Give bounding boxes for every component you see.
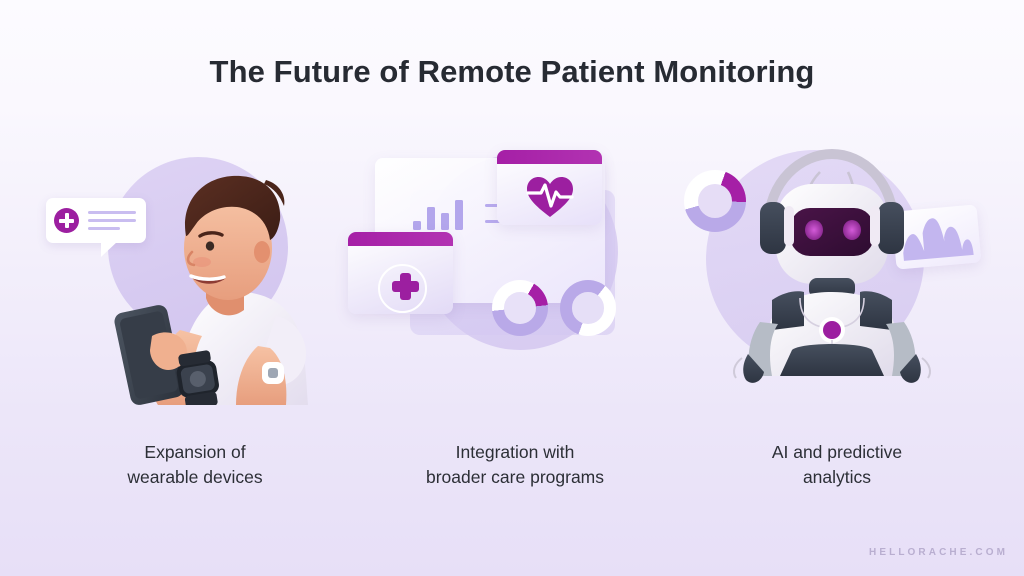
bar (455, 200, 463, 230)
caption-line-1: AI and predictive (672, 440, 1002, 465)
heart-pulse-icon (526, 176, 574, 218)
medical-record-card (348, 232, 453, 314)
bubble-text-line (88, 227, 120, 230)
medical-plus-icon (54, 208, 79, 233)
illustration-ai (672, 140, 1002, 405)
donut-chart-left (492, 280, 548, 336)
bar (441, 213, 449, 230)
caption-wearables: Expansion of wearable devices (30, 440, 360, 491)
bar-chart-icon (413, 200, 473, 230)
medical-cross-icon (392, 281, 419, 292)
caption-line-1: Expansion of (30, 440, 360, 465)
illustration-wearables (30, 140, 360, 405)
bar (413, 221, 421, 230)
bar (427, 207, 435, 230)
page-title: The Future of Remote Patient Monitoring (0, 54, 1024, 90)
bubble-text-line (88, 211, 136, 214)
card-header-bar (348, 232, 453, 246)
caption-line-2: broader care programs (350, 465, 680, 490)
bubble-text-line (88, 219, 136, 222)
health-dashboard-cards (350, 140, 680, 405)
caption-line-1: Integration with (350, 440, 680, 465)
caption-ai: AI and predictive analytics (672, 440, 1002, 491)
watermark: HELLORACHE.COM (869, 547, 1008, 558)
card-header-bar (497, 150, 602, 164)
column-integration: Integration with broader care programs (350, 140, 680, 560)
caption-line-2: analytics (672, 465, 1002, 490)
caption-integration: Integration with broader care programs (350, 440, 680, 491)
column-wearables: Expansion of wearable devices (30, 140, 360, 560)
man-with-smartphone-illustration (30, 140, 360, 405)
infographic-canvas: The Future of Remote Patient Monitoring (0, 0, 1024, 576)
donut-chart-right (560, 280, 616, 336)
column-ai: AI and predictive analytics (672, 140, 1002, 560)
caption-line-2: wearable devices (30, 465, 360, 490)
illustration-integration (350, 140, 680, 405)
ai-robot-illustration (672, 140, 1002, 405)
health-notification-bubble (46, 198, 146, 243)
vitals-card (497, 150, 602, 225)
